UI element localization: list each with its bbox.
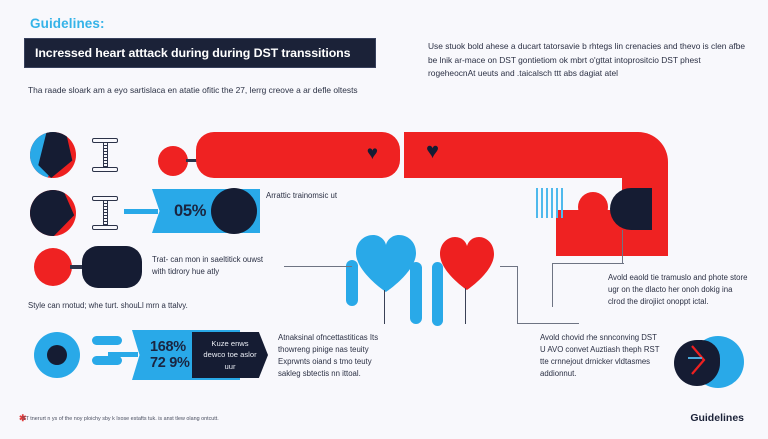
right-note-lower: Avold chovid rhe snnconving DST U AVO co… (540, 332, 664, 380)
row-style-note: Style can rnotud; whe turt. shouLl mrn a… (28, 300, 288, 312)
bar-icon-top (92, 336, 122, 345)
heart-icon (438, 234, 496, 292)
dumbbell-plate-bottom (92, 225, 118, 230)
navy-pill-marker (82, 246, 142, 288)
connector-line-left (284, 266, 352, 267)
red-bar-left-segment: ♥ (196, 132, 400, 178)
tick-mark (551, 188, 553, 218)
balloon-string (384, 290, 385, 324)
connector-line-pill-vertical (622, 230, 623, 264)
banner-tail-connector (124, 209, 158, 214)
stat-chevron-secondary: Kuze enws dewco toe aslor uur (192, 332, 268, 378)
lead-paragraph: Tha raade sloark am a eyo sartislaca en … (28, 84, 358, 97)
heart-icon (354, 232, 418, 294)
navy-half-pill-marker (610, 188, 652, 230)
stat-value-primary: 05% (152, 202, 206, 221)
ring-chart-icon (34, 332, 80, 378)
stat-bullet-navy-circle (211, 188, 257, 234)
balloon-heart-red (438, 234, 496, 292)
connector-line-pill-drop (552, 263, 553, 307)
tick-mark (556, 188, 558, 218)
tick-mark (561, 188, 563, 218)
connector-line-right (500, 266, 518, 267)
tick-marks-group (536, 188, 563, 218)
balloon-string (465, 288, 466, 324)
heart-icon: ♥ (367, 144, 378, 163)
right-paragraph: Use stuok bold ahese a ducart tatorsavie… (428, 40, 748, 81)
banner-tail-connector (108, 352, 138, 357)
page-title-bar: Incressed heart atttack during during DS… (24, 38, 376, 68)
balloon-heart-blue-drip-right (410, 262, 422, 324)
tick-mark (536, 188, 538, 218)
dumbbell-plate-bottom (92, 167, 118, 172)
infographic-canvas: Guidelines: Incressed heart atttack duri… (0, 0, 768, 439)
connector-line-pill-horizontal (552, 263, 624, 264)
red-dot-marker (578, 192, 608, 222)
dumbbell-icon (92, 196, 118, 230)
heart-icon: ♥ (426, 140, 439, 162)
red-dot-bar-start (158, 146, 188, 176)
stat-caption-secondary: Atnaksinal ofncettastiticas Its thowreng… (278, 332, 382, 380)
page-title: Incressed heart atttack during during DS… (25, 46, 350, 60)
footer-brand: Guidelines (690, 412, 744, 424)
dumbbell-bar (103, 200, 108, 226)
row-caption-red-navy: Trat- can mon in saeltitick ouwst with t… (152, 254, 264, 278)
pie-chart-split-two (30, 190, 76, 236)
footnote-text: ST tnerurt n ys of the noy ploichy sby k… (22, 416, 219, 422)
page-kicker: Guidelines: (30, 16, 105, 31)
stat-value-b: 72 9% (150, 355, 190, 371)
dumbbell-icon (92, 138, 118, 172)
dumbbell-bar (103, 142, 108, 168)
tick-mark (541, 188, 543, 218)
red-circle-marker (34, 248, 72, 286)
connector-line-right-vertical (517, 266, 518, 324)
bar-icon-bottom (92, 356, 122, 365)
stat-chevron-text: Kuze enws dewco toe aslor uur (192, 338, 268, 372)
connector-line-right-lower (517, 323, 579, 324)
pie-segment-navy (30, 190, 76, 236)
arrow-icon (688, 342, 710, 378)
pie-chart-split-three (30, 132, 76, 178)
tick-mark (546, 188, 548, 218)
stat-value-group: 168% 72 9% (132, 339, 190, 371)
right-note-upper: Avold eaold tie tramuslo and phote store… (608, 272, 748, 308)
stat-caption-primary: Arrattic trainomsic ut (266, 190, 344, 202)
stat-value-a: 168% (150, 339, 190, 355)
venn-diagram (674, 336, 744, 394)
balloon-heart-red-drip-left (432, 262, 443, 326)
ring-chart-hole (47, 345, 67, 365)
balloon-heart-blue (354, 232, 418, 294)
